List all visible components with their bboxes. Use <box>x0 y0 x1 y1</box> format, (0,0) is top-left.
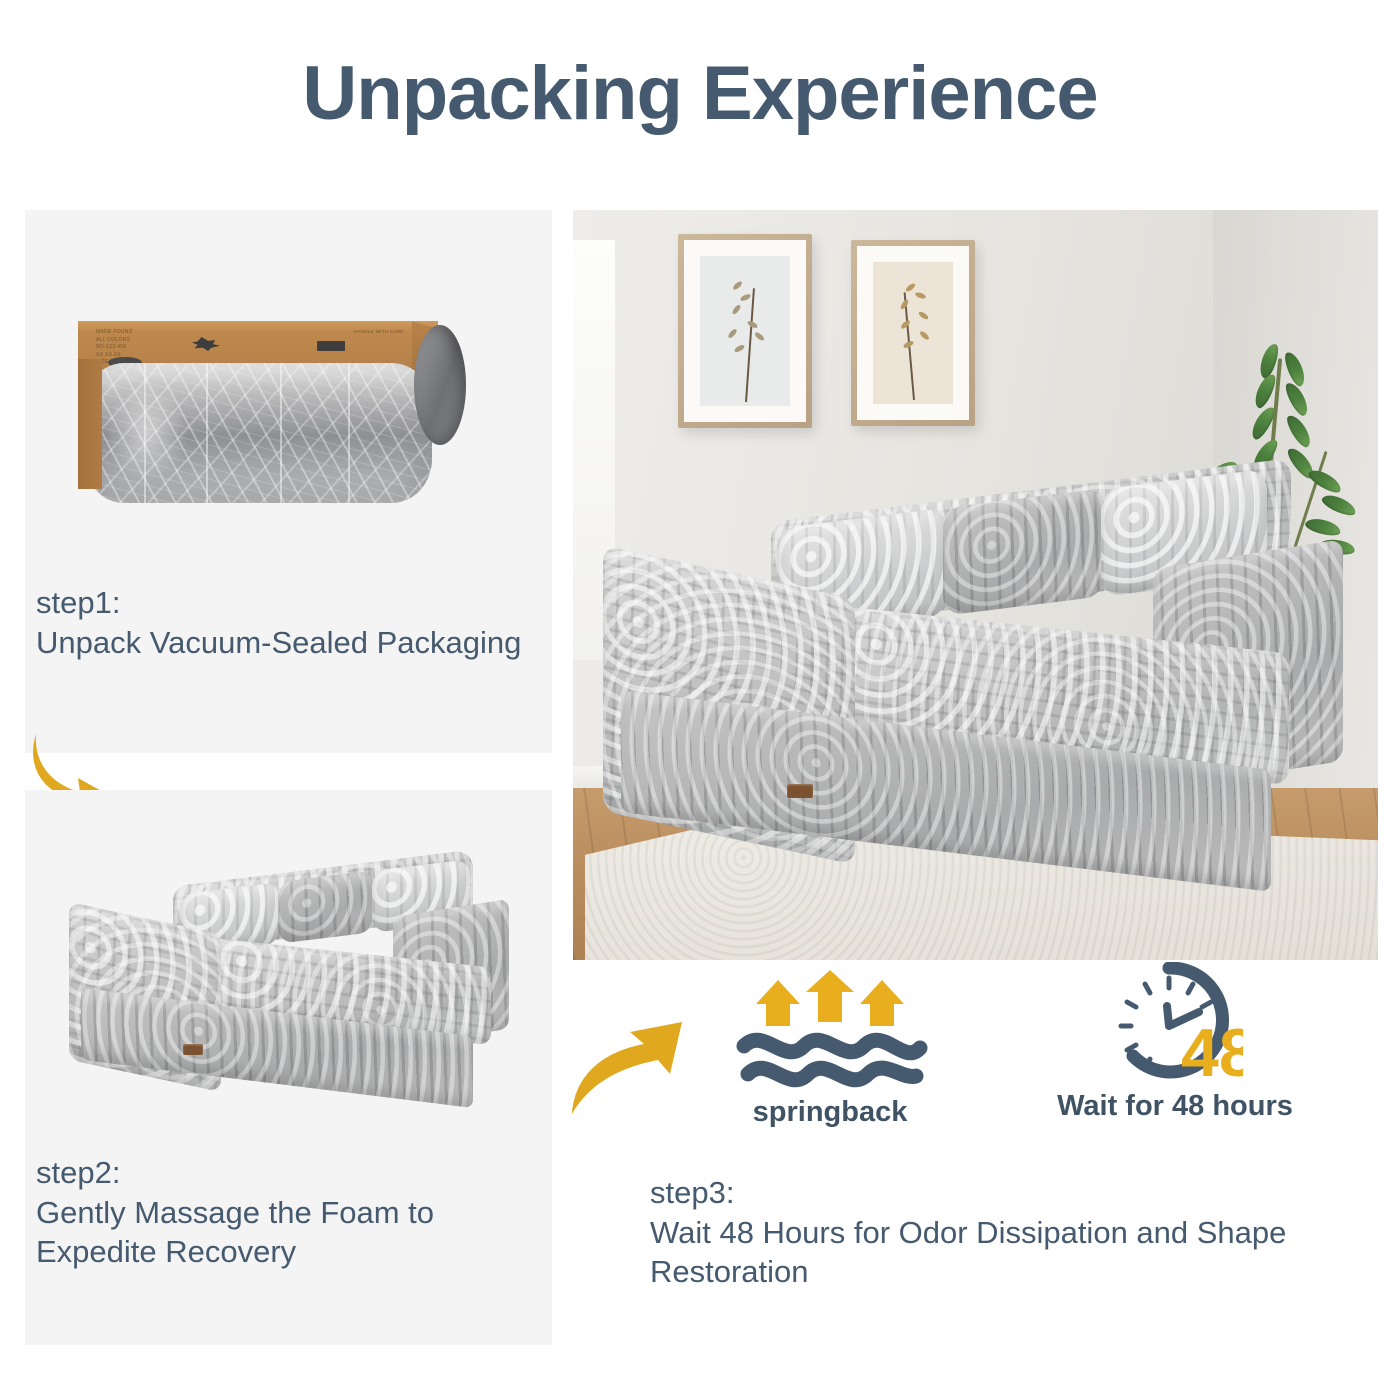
frame-right-botanical-print <box>873 262 953 404</box>
step2-image-sofa <box>55 862 523 1098</box>
frame-left-mat <box>684 240 806 422</box>
clock-48-icon: 48 <box>1107 962 1243 1084</box>
carton-print-right: HANDLE WITH CARE <box>354 329 404 336</box>
vacuum-sealed-roll <box>84 363 432 503</box>
sofa3-back-cushion-2 <box>943 488 1105 616</box>
curved-arrow-up-right-icon <box>570 1018 700 1118</box>
step3-description: Wait 48 Hours for Odor Dissipation and S… <box>650 1213 1350 1292</box>
frame-left-botanical-print <box>700 256 790 406</box>
frame-right-mat <box>857 246 969 420</box>
step1-label: step1: <box>36 583 536 623</box>
carton-label-block <box>317 341 345 351</box>
sofa3-brand-tag <box>787 784 813 798</box>
step2-text: step2: Gently Massage the Foam to Expedi… <box>36 1153 541 1272</box>
sofa2-back-cushion-2 <box>278 870 374 944</box>
step2-label: step2: <box>36 1153 541 1193</box>
step1-image-vacuum-packaging: MADE FOUND ALL COLORS NO-123-456 XX XX.X… <box>62 315 462 530</box>
feature-springback-label: springback <box>700 1096 960 1129</box>
step3-sofa <box>591 476 1331 876</box>
wall-art-frame-left <box>678 234 812 428</box>
feature-wait-48-hours: 48 Wait for 48 hours <box>985 962 1365 1123</box>
step3-text: step3: Wait 48 Hours for Odor Dissipatio… <box>650 1173 1350 1292</box>
step1-description: Unpack Vacuum-Sealed Packaging <box>36 623 536 663</box>
page-title: Unpacking Experience <box>0 56 1400 132</box>
clock-48-badge: 48 <box>1181 1015 1243 1084</box>
vacuum-roll-end-cap <box>414 325 466 445</box>
sofa2-brand-tag <box>183 1044 203 1055</box>
carton-box-left-side <box>78 359 102 489</box>
step3-label: step3: <box>650 1173 1350 1213</box>
wall-art-frame-right <box>851 240 975 426</box>
feature-wait-label: Wait for 48 hours <box>985 1090 1365 1123</box>
step1-text: step1: Unpack Vacuum-Sealed Packaging <box>36 583 536 662</box>
step3-image-living-room <box>573 210 1378 960</box>
step2-description: Gently Massage the Foam to Expedite Reco… <box>36 1193 541 1272</box>
springback-waves-icon <box>730 970 930 1090</box>
feature-springback: springback <box>700 970 960 1129</box>
